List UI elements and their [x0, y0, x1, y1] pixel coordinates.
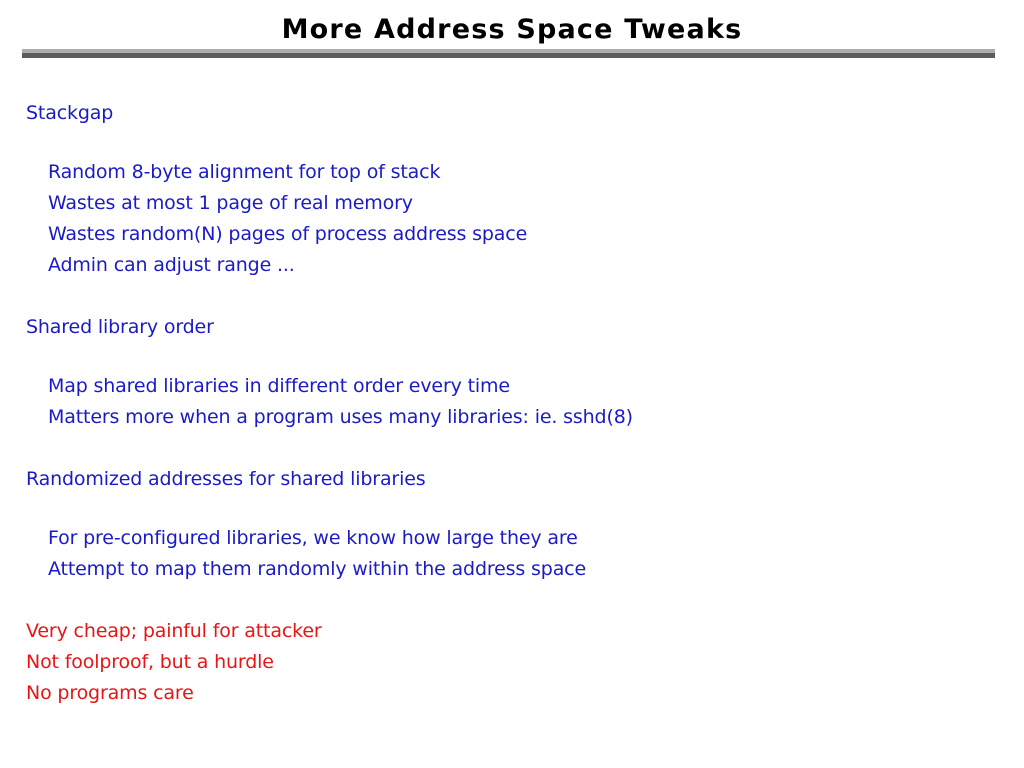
section-heading: Stackgap	[0, 98, 1024, 129]
bullet-item: For pre-configured libraries, we know ho…	[0, 523, 1024, 554]
section-shared-library-order: Shared library order Map shared librarie…	[0, 312, 1024, 433]
title-divider	[22, 49, 995, 58]
spacer	[0, 129, 1024, 157]
summary-item: No programs care	[0, 678, 1024, 709]
section-stackgap: Stackgap Random 8-byte alignment for top…	[0, 98, 1024, 281]
section-heading: Randomized addresses for shared librarie…	[0, 464, 1024, 495]
divider-shadow-band	[22, 53, 995, 58]
bullet-item: Wastes random(N) pages of process addres…	[0, 219, 1024, 250]
bullet-item: Admin can adjust range ...	[0, 250, 1024, 281]
slide-content: Stackgap Random 8-byte alignment for top…	[0, 98, 1024, 709]
bullet-item: Map shared libraries in different order …	[0, 371, 1024, 402]
summary-block: Very cheap; painful for attacker Not foo…	[0, 616, 1024, 709]
spacer	[0, 495, 1024, 523]
spacer	[0, 343, 1024, 371]
spacer	[0, 433, 1024, 464]
bullet-item: Matters more when a program uses many li…	[0, 402, 1024, 433]
page-title: More Address Space Tweaks	[0, 14, 1024, 46]
spacer	[0, 281, 1024, 312]
bullet-item: Random 8-byte alignment for top of stack	[0, 157, 1024, 188]
slide-page: { "slide": { "title": "More Address Spac…	[0, 0, 1024, 768]
section-heading: Shared library order	[0, 312, 1024, 343]
summary-item: Not foolproof, but a hurdle	[0, 647, 1024, 678]
spacer	[0, 585, 1024, 616]
bullet-item: Attempt to map them randomly within the …	[0, 554, 1024, 585]
bullet-item: Wastes at most 1 page of real memory	[0, 188, 1024, 219]
summary-item: Very cheap; painful for attacker	[0, 616, 1024, 647]
section-randomized-addresses: Randomized addresses for shared librarie…	[0, 464, 1024, 585]
